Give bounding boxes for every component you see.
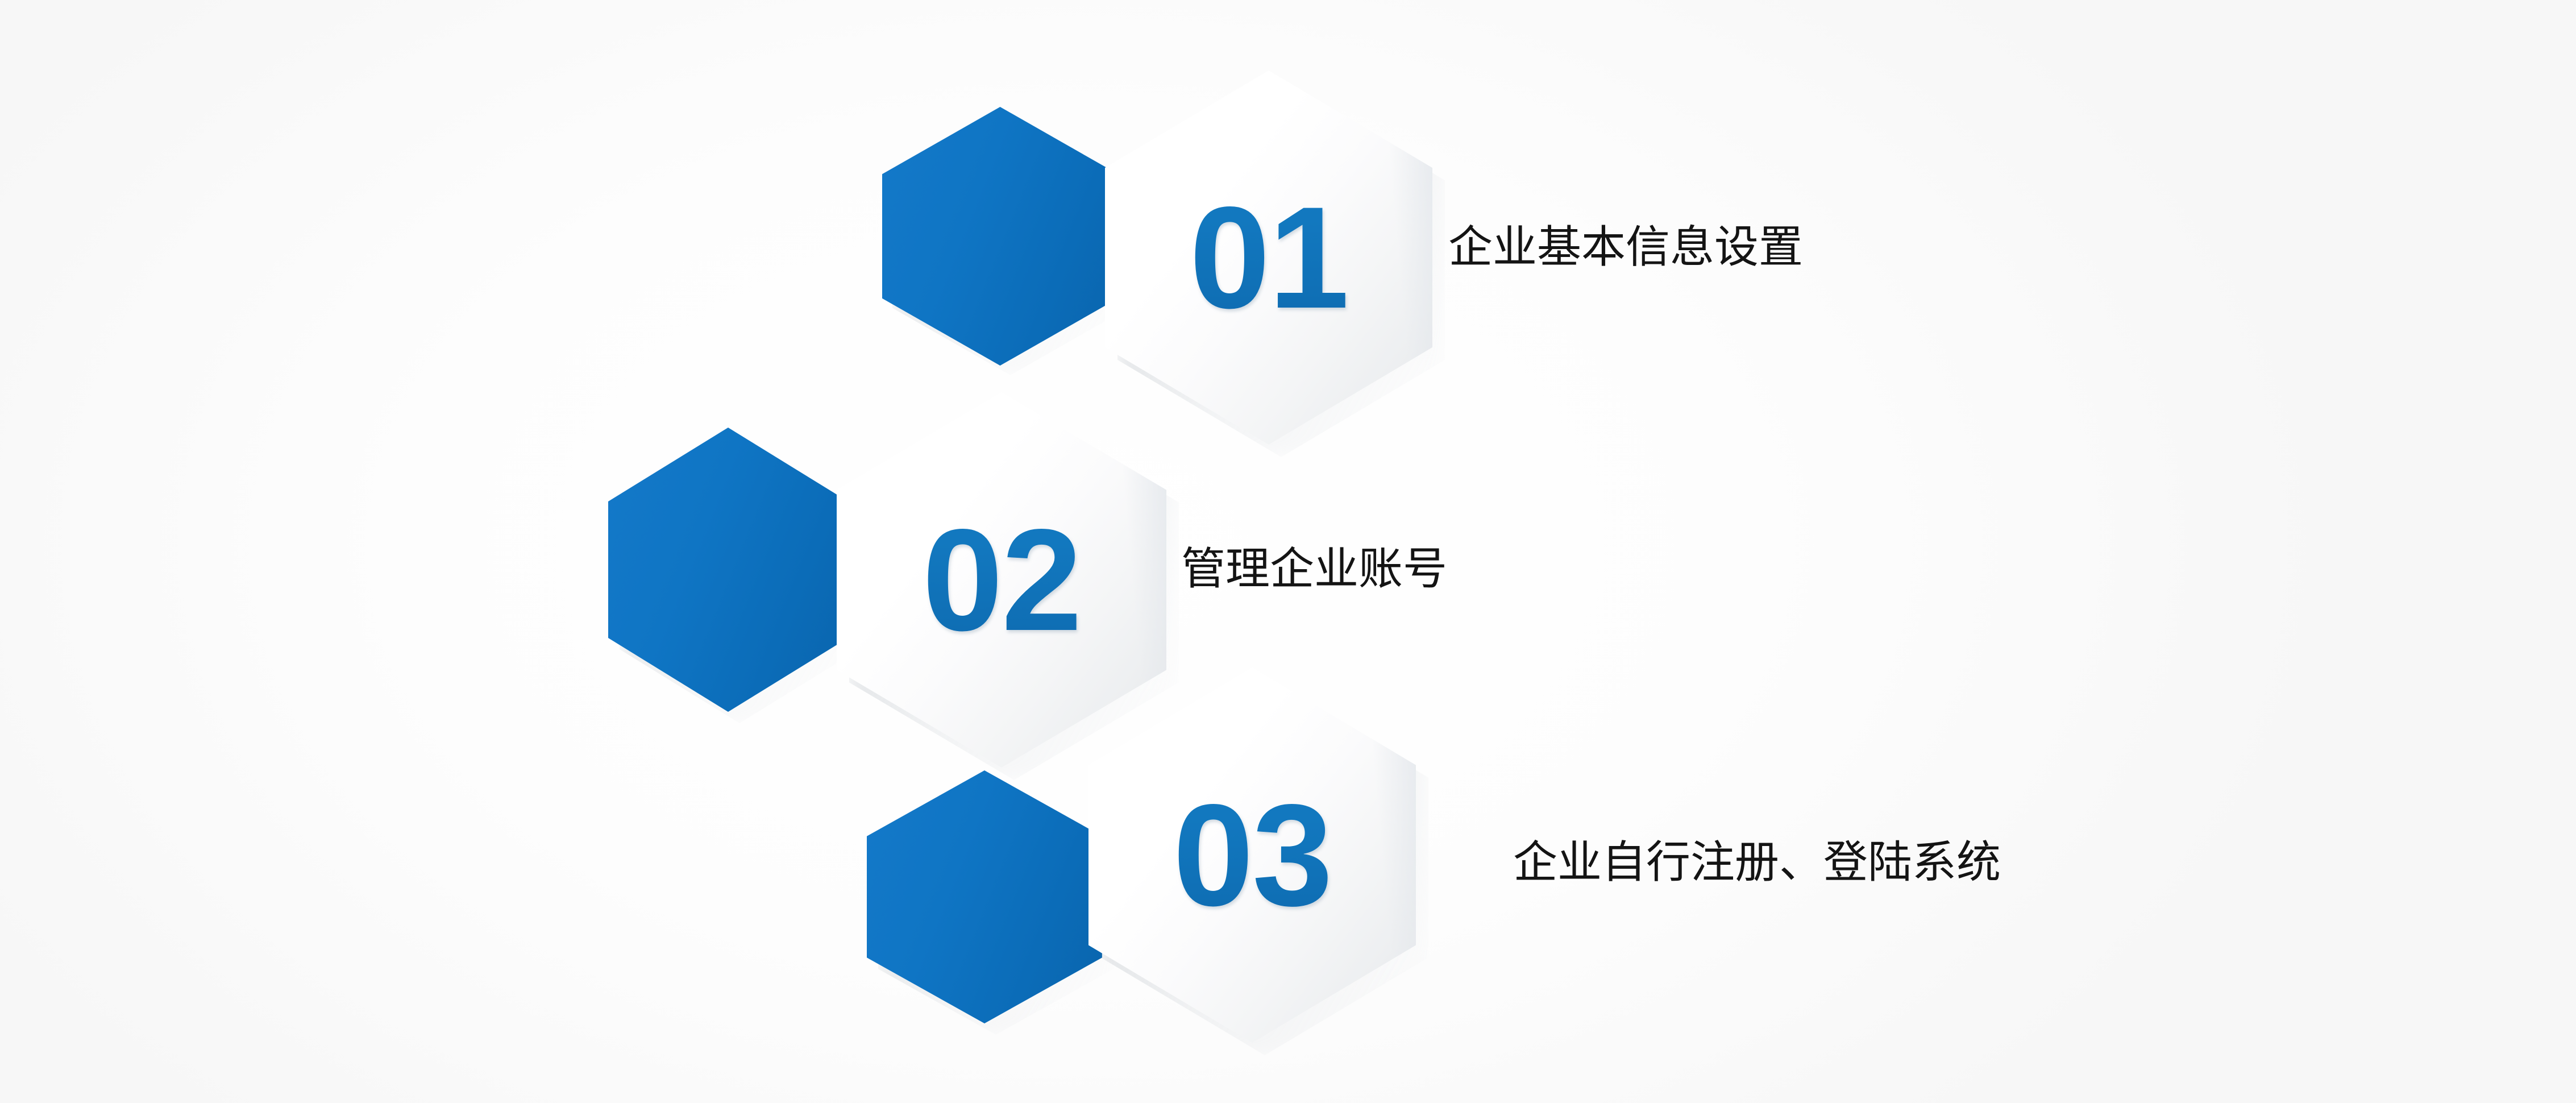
step-label-03: 企业自行注册、登陆系统 xyxy=(1513,840,2001,885)
hex-step-03[interactable]: 03 企业自行注册、登陆系统 xyxy=(0,0,2576,1103)
diagram-canvas: 01 企业基本信息设置 02 管理企业账号 03 企业自行注册、登陆系统 xyxy=(0,0,2576,1103)
step-number-03: 03 xyxy=(1088,667,1416,1043)
